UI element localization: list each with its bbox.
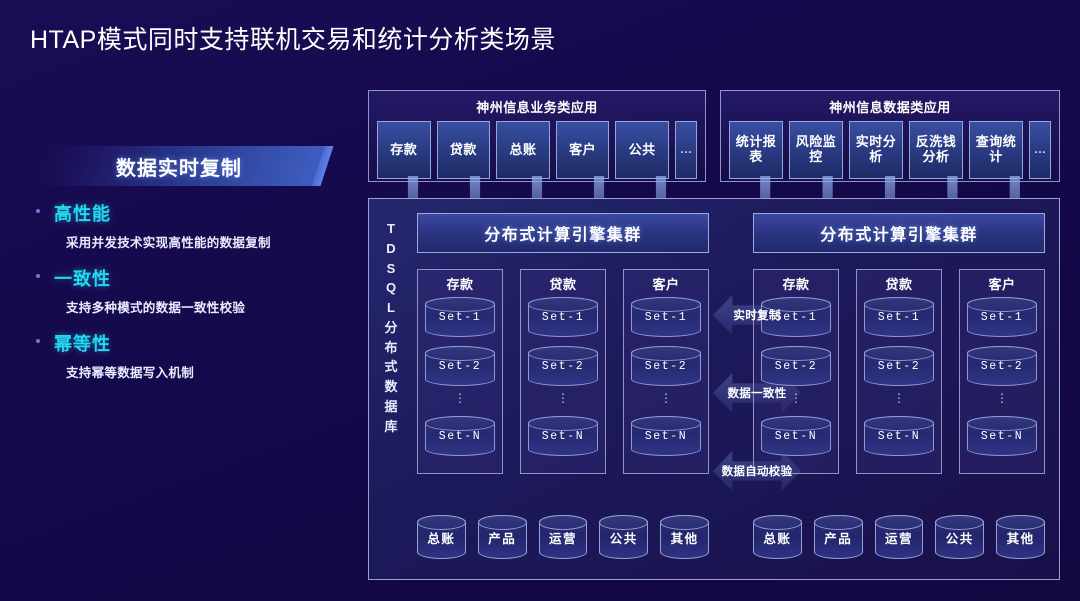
app-cell[interactable]: 风险监控 [789, 121, 843, 179]
tdsql-vertical-label: TDSQL分布式数据库 [379, 219, 403, 436]
set-cylinder[interactable]: Set-1 [528, 297, 598, 337]
bottom-cylinder-row-right: 总账 产品 运营 公共 其他 [753, 515, 1045, 559]
app-box-title: 神州信息数据类应用 [729, 97, 1051, 116]
set-group-title: 贷款 [864, 274, 934, 293]
bottom-cylinder[interactable]: 总账 [753, 515, 802, 559]
sidebar-banner: 数据实时复制 [34, 146, 325, 186]
app-box-title: 神州信息业务类应用 [377, 97, 697, 116]
set-label: Set-2 [645, 360, 688, 373]
set-label: Set-1 [981, 311, 1024, 324]
bottom-cylinder-label: 产品 [824, 528, 852, 547]
set-label: Set-2 [981, 360, 1024, 373]
feature-description: 支持多种模式的数据一致性校验 [66, 297, 354, 316]
compute-engine-cluster: 分布式计算引擎集群 [417, 213, 709, 253]
set-label: Set-2 [439, 360, 482, 373]
bottom-cylinder-label: 运营 [885, 528, 913, 547]
set-cylinder[interactable]: Set-N [761, 416, 831, 456]
bottom-cylinder[interactable]: 其他 [996, 515, 1045, 559]
bottom-cylinder-label: 总账 [427, 528, 455, 547]
set-cylinder[interactable]: Set-N [967, 416, 1037, 456]
set-group-title: 贷款 [528, 274, 598, 293]
set-cylinder[interactable]: Set-2 [425, 346, 495, 386]
set-group-row: 存款 Set-1 Set-2 ⋮ Set-N 贷款 Set-1 Set-2 ⋮ … [417, 269, 709, 474]
bottom-cylinder[interactable]: 运营 [875, 515, 924, 559]
set-group: 存款 Set-1 Set-2 ⋮ Set-N [417, 269, 503, 474]
set-label: Set-N [878, 430, 921, 443]
bottom-cylinder[interactable]: 运营 [539, 515, 588, 559]
bullet-icon [36, 339, 40, 343]
set-label: Set-1 [542, 311, 585, 324]
bullet-icon [36, 274, 40, 278]
set-group: 贷款 Set-1 Set-2 ⋮ Set-N [856, 269, 942, 474]
set-label: Set-2 [775, 360, 818, 373]
app-cell-row: 存款 贷款 总账 客户 公共 … [377, 121, 697, 179]
set-group-title: 客户 [967, 274, 1037, 293]
feature-item: 幂等性 支持幂等数据写入机制 [24, 330, 354, 381]
cluster-left: 分布式计算引擎集群 存款 Set-1 Set-2 ⋮ Set-N 贷款 Set-… [417, 213, 709, 474]
bullet-icon [36, 209, 40, 213]
set-label: Set-N [981, 430, 1024, 443]
vertical-ellipsis: ⋮ [967, 395, 1037, 411]
set-group: 存款 Set-1 Set-2 ⋮ Set-N [753, 269, 839, 474]
set-cylinder[interactable]: Set-N [631, 416, 701, 456]
set-cylinder[interactable]: Set-1 [864, 297, 934, 337]
set-cylinder[interactable]: Set-2 [967, 346, 1037, 386]
set-label: Set-1 [645, 311, 688, 324]
bottom-cylinder[interactable]: 产品 [814, 515, 863, 559]
sidebar: 数据实时复制 高性能 采用并发技术实现高性能的数据复制 一致性 支持多种模式的数… [24, 146, 354, 381]
cluster-right: 分布式计算引擎集群 存款 Set-1 Set-2 ⋮ Set-N 贷款 Set-… [753, 213, 1045, 474]
vertical-ellipsis: ⋮ [528, 395, 598, 411]
compute-engine-cluster: 分布式计算引擎集群 [753, 213, 1045, 253]
set-cylinder[interactable]: Set-1 [631, 297, 701, 337]
app-box-business: 神州信息业务类应用 存款 贷款 总账 客户 公共 … [368, 90, 706, 182]
set-label: Set-1 [878, 311, 921, 324]
app-cell-more[interactable]: … [1029, 121, 1051, 179]
set-label: Set-2 [878, 360, 921, 373]
page-title: HTAP模式同时支持联机交易和统计分析类场景 [30, 20, 556, 56]
bottom-cylinder-label: 其他 [671, 528, 699, 547]
app-cell[interactable]: 统计报表 [729, 121, 783, 179]
feature-description: 支持幂等数据写入机制 [66, 362, 354, 381]
vertical-ellipsis: ⋮ [631, 395, 701, 411]
set-group: 客户 Set-1 Set-2 ⋮ Set-N [623, 269, 709, 474]
bottom-cylinder[interactable]: 总账 [417, 515, 466, 559]
bottom-cylinder-row-left: 总账 产品 运营 公共 其他 [417, 515, 709, 559]
set-label: Set-N [542, 430, 585, 443]
set-label: Set-N [439, 430, 482, 443]
set-label: Set-N [775, 430, 818, 443]
app-cell[interactable]: 总账 [496, 121, 550, 179]
set-label: Set-1 [775, 311, 818, 324]
set-group: 客户 Set-1 Set-2 ⋮ Set-N [959, 269, 1045, 474]
app-cell[interactable]: 查询统计 [969, 121, 1023, 179]
app-box-data: 神州信息数据类应用 统计报表 风险监控 实时分析 反洗钱分析 查询统计 … [720, 90, 1060, 182]
set-cylinder[interactable]: Set-1 [425, 297, 495, 337]
bottom-cylinder-label: 公共 [610, 528, 638, 547]
feature-heading: 幂等性 [54, 330, 354, 356]
set-cylinder[interactable]: Set-2 [528, 346, 598, 386]
set-group-title: 存款 [425, 274, 495, 293]
feature-item: 高性能 采用并发技术实现高性能的数据复制 [24, 200, 354, 251]
vertical-ellipsis: ⋮ [425, 395, 495, 411]
sync-arrow-label: 数据自动校验 [722, 463, 793, 479]
vertical-ellipsis: ⋮ [864, 395, 934, 411]
feature-heading: 一致性 [54, 265, 354, 291]
app-cell[interactable]: 反洗钱分析 [909, 121, 963, 179]
bottom-cylinder[interactable]: 产品 [478, 515, 527, 559]
sidebar-banner-label: 数据实时复制 [116, 152, 242, 181]
set-group-title: 客户 [631, 274, 701, 293]
bottom-cylinder-label: 运营 [549, 528, 577, 547]
feature-item: 一致性 支持多种模式的数据一致性校验 [24, 265, 354, 316]
bottom-cylinder[interactable]: 其他 [660, 515, 709, 559]
app-cell-row: 统计报表 风险监控 实时分析 反洗钱分析 查询统计 … [729, 121, 1051, 179]
bottom-cylinder-label: 公共 [946, 528, 974, 547]
set-cylinder[interactable]: Set-2 [864, 346, 934, 386]
set-cylinder[interactable]: Set-N [864, 416, 934, 456]
set-cylinder[interactable]: Set-2 [761, 346, 831, 386]
set-label: Set-N [645, 430, 688, 443]
feature-heading: 高性能 [54, 200, 354, 226]
app-cell[interactable]: 客户 [556, 121, 610, 179]
set-label: Set-1 [439, 311, 482, 324]
bottom-cylinder-label: 总账 [763, 528, 791, 547]
bottom-cylinder[interactable]: 公共 [599, 515, 648, 559]
app-cell[interactable]: 贷款 [437, 121, 491, 179]
set-label: Set-2 [542, 360, 585, 373]
set-cylinder[interactable]: Set-N [528, 416, 598, 456]
bottom-cylinder-label: 其他 [1007, 528, 1035, 547]
set-cylinder[interactable]: Set-1 [967, 297, 1037, 337]
set-cylinder[interactable]: Set-2 [631, 346, 701, 386]
bottom-cylinder-label: 产品 [488, 528, 516, 547]
set-group-title: 存款 [761, 274, 831, 293]
app-cell[interactable]: 实时分析 [849, 121, 903, 179]
slide-canvas: HTAP模式同时支持联机交易和统计分析类场景 数据实时复制 高性能 采用并发技术… [0, 0, 1080, 601]
bottom-cylinder[interactable]: 公共 [935, 515, 984, 559]
feature-description: 采用并发技术实现高性能的数据复制 [66, 232, 354, 251]
set-group: 贷款 Set-1 Set-2 ⋮ Set-N [520, 269, 606, 474]
tdsql-panel: TDSQL分布式数据库 分布式计算引擎集群 存款 Set-1 Set-2 ⋮ S… [368, 198, 1060, 580]
app-cell-more[interactable]: … [675, 121, 697, 179]
set-cylinder[interactable]: Set-N [425, 416, 495, 456]
app-cell[interactable]: 公共 [615, 121, 669, 179]
app-cell[interactable]: 存款 [377, 121, 431, 179]
set-group-row: 存款 Set-1 Set-2 ⋮ Set-N 贷款 Set-1 Set-2 ⋮ … [753, 269, 1045, 474]
sync-arrow-label: 数据一致性 [728, 385, 787, 401]
sync-arrow-label: 实时复制 [733, 307, 780, 323]
